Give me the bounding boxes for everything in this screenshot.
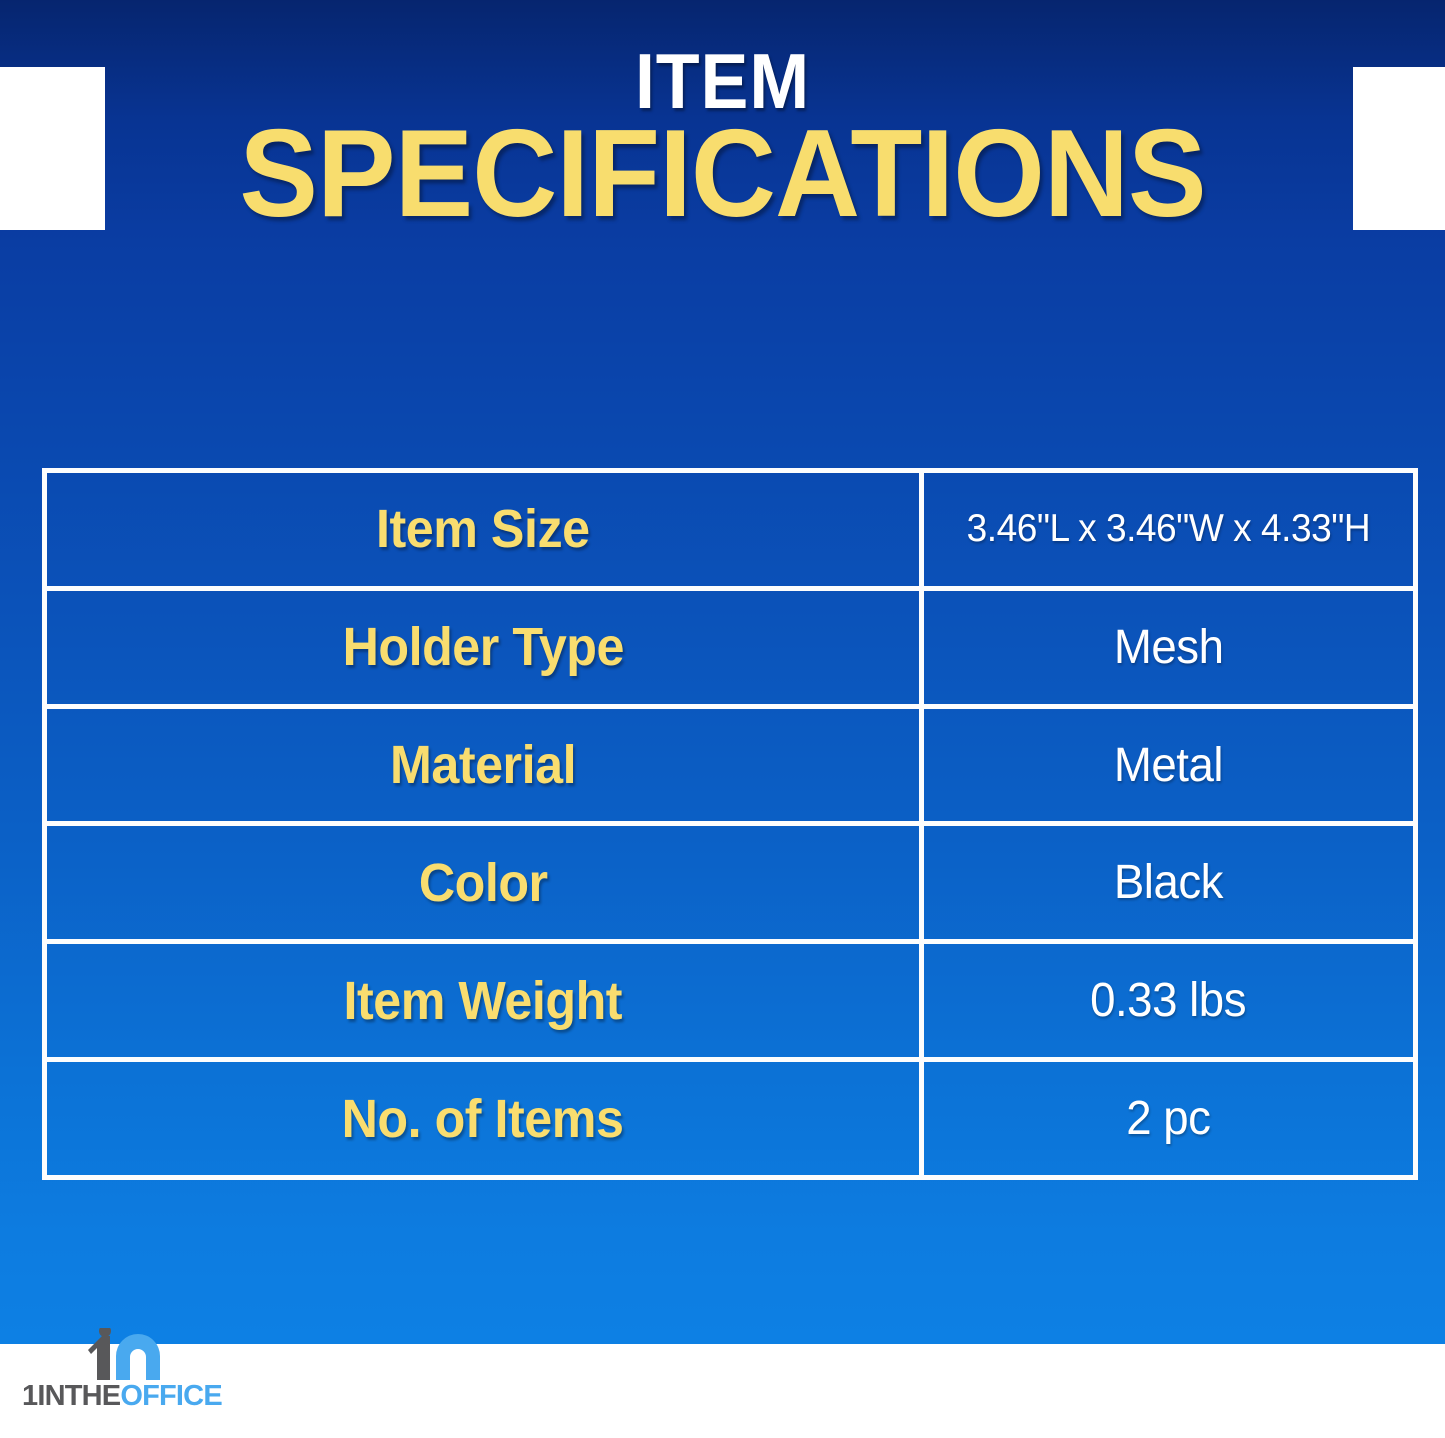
spec-label-cell: No. of Items: [47, 1062, 924, 1175]
table-row: Material Metal: [47, 709, 1413, 827]
spec-label: Item Size: [376, 498, 590, 560]
spec-label: No. of Items: [342, 1088, 624, 1150]
table-row: Holder Type Mesh: [47, 591, 1413, 709]
spec-value-cell: 3.46"L x 3.46"W x 4.33"H: [924, 473, 1413, 586]
brand-logo: 1INTHEOFFICE: [22, 1328, 232, 1434]
table-row: Color Black: [47, 826, 1413, 944]
spec-value-cell: Metal: [924, 709, 1413, 822]
spec-value: Black: [1114, 855, 1223, 910]
footer: 1INTHEOFFICE: [0, 1344, 1445, 1438]
header: ITEM SPECIFICATIONS: [0, 0, 1445, 240]
spec-value-cell: 2 pc: [924, 1062, 1413, 1175]
brand-wordmark: 1INTHEOFFICE: [22, 1380, 232, 1412]
spec-label: Holder Type: [342, 616, 623, 678]
table-row: No. of Items 2 pc: [47, 1062, 1413, 1175]
spec-sheet-page: ITEM SPECIFICATIONS Item Size 3.46"L x 3…: [0, 0, 1445, 1438]
spec-label-cell: Item Size: [47, 473, 924, 586]
spec-label: Item Weight: [344, 970, 623, 1032]
spec-label-cell: Item Weight: [47, 944, 924, 1057]
spec-label-cell: Material: [47, 709, 924, 822]
spec-label: Color: [419, 852, 548, 914]
spec-value: 2 pc: [1126, 1091, 1210, 1146]
spec-value: Mesh: [1114, 620, 1224, 675]
brand-wordmark-dark: 1INTHE: [22, 1380, 120, 1412]
brand-wordmark-blue: OFFICE: [120, 1380, 222, 1412]
logo-mark-icon: [80, 1328, 176, 1380]
spec-value: Metal: [1114, 738, 1223, 793]
spec-value-cell: Mesh: [924, 591, 1413, 704]
spec-value: 0.33 lbs: [1091, 973, 1247, 1028]
table-row: Item Weight 0.33 lbs: [47, 944, 1413, 1062]
spec-value-cell: 0.33 lbs: [924, 944, 1413, 1057]
spec-label-cell: Holder Type: [47, 591, 924, 704]
spec-value: 3.46"L x 3.46"W x 4.33"H: [967, 507, 1371, 551]
page-title-secondary: SPECIFICATIONS: [36, 112, 1409, 236]
spec-label: Material: [390, 734, 576, 796]
spec-value-cell: Black: [924, 826, 1413, 939]
table-row: Item Size 3.46"L x 3.46"W x 4.33"H: [47, 473, 1413, 591]
spec-label-cell: Color: [47, 826, 924, 939]
specifications-table: Item Size 3.46"L x 3.46"W x 4.33"H Holde…: [42, 468, 1418, 1180]
